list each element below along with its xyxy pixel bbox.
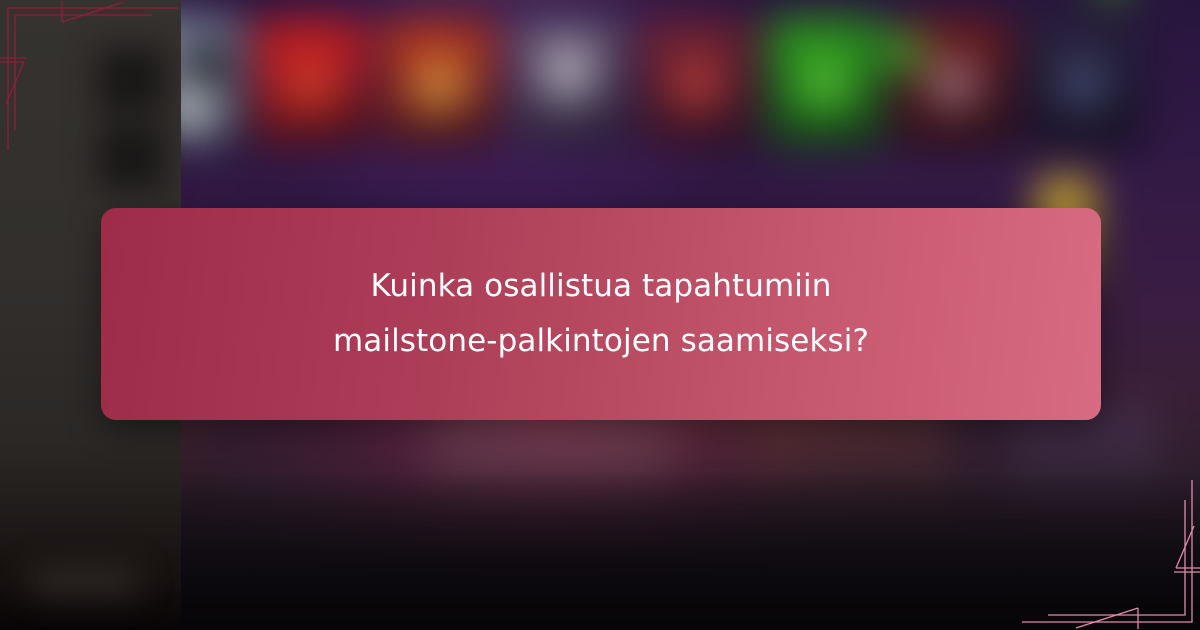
character-card-row [125,18,1140,148]
question-line-2: mailstone-palkintojen saamiseksi? [333,326,869,357]
panel-slot-3 [30,568,140,596]
character-card-6 [768,18,883,146]
card-glow-icon [665,49,729,121]
card-glow-icon [407,49,471,121]
panel-slot-1 [98,48,164,112]
question-line-1: Kuinka osallistua tapahtumiin [371,271,832,302]
panel-slot-2 [98,126,164,188]
character-card-2 [254,18,369,146]
character-card-5 [640,18,755,146]
card-glow-icon [279,49,343,121]
card-glow-icon [922,49,986,121]
card-glow-icon [1051,49,1115,121]
card-glow-icon [793,49,857,121]
character-card-8 [1025,18,1140,146]
character-card-3 [382,18,497,146]
green-pip-icon [886,32,924,72]
character-card-4 [511,18,626,146]
share-card-canvas: Kuinka osallistua tapahtumiin mailstone-… [0,0,1200,630]
card-glow-icon [536,36,600,108]
question-card: Kuinka osallistua tapahtumiin mailstone-… [101,208,1101,420]
